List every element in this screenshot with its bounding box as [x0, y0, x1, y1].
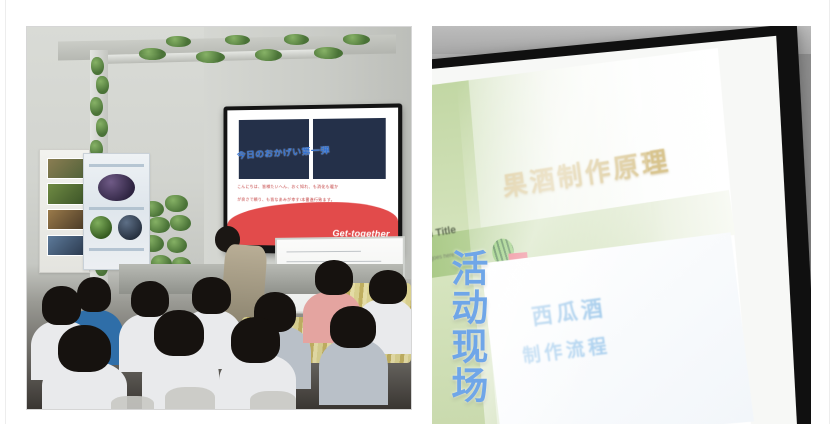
slide-white-panel [481, 232, 754, 424]
page-right-rule [829, 0, 830, 424]
slide-main-title: 果酒制作原理 [500, 140, 672, 203]
page-left-rule [5, 0, 6, 424]
ivy-garland-ceiling [135, 31, 381, 77]
slide-body-line-1: こんにちは、皆様たいへん、おく知れ、も消化も暖か [237, 185, 388, 191]
classroom-photo[interactable]: 今日のおかげい第一弾 こんにちは、皆様たいへん、おく知れ、も消化も暖か が良さで… [26, 26, 412, 410]
screen-frame: ion Title ting goes here 果酒制作原理 西瓜酒 制作流程 [432, 26, 811, 424]
overlay-caption: 活动现场 [447, 249, 485, 405]
projector-screen-photo[interactable]: ion Title ting goes here 果酒制作原理 西瓜酒 制作流程 [432, 26, 811, 424]
audience-group [27, 226, 411, 409]
room-wall: ion Title ting goes here 果酒制作原理 西瓜酒 制作流程 [432, 26, 811, 424]
photo-page: 今日のおかげい第一弾 こんにちは、皆様たいへん、おく知れ、も消化も暖か が良さで… [0, 0, 839, 424]
classroom-scene: 今日のおかげい第一弾 こんにちは、皆様たいへん、おく知れ、も消化も暖か が良さで… [27, 27, 411, 409]
